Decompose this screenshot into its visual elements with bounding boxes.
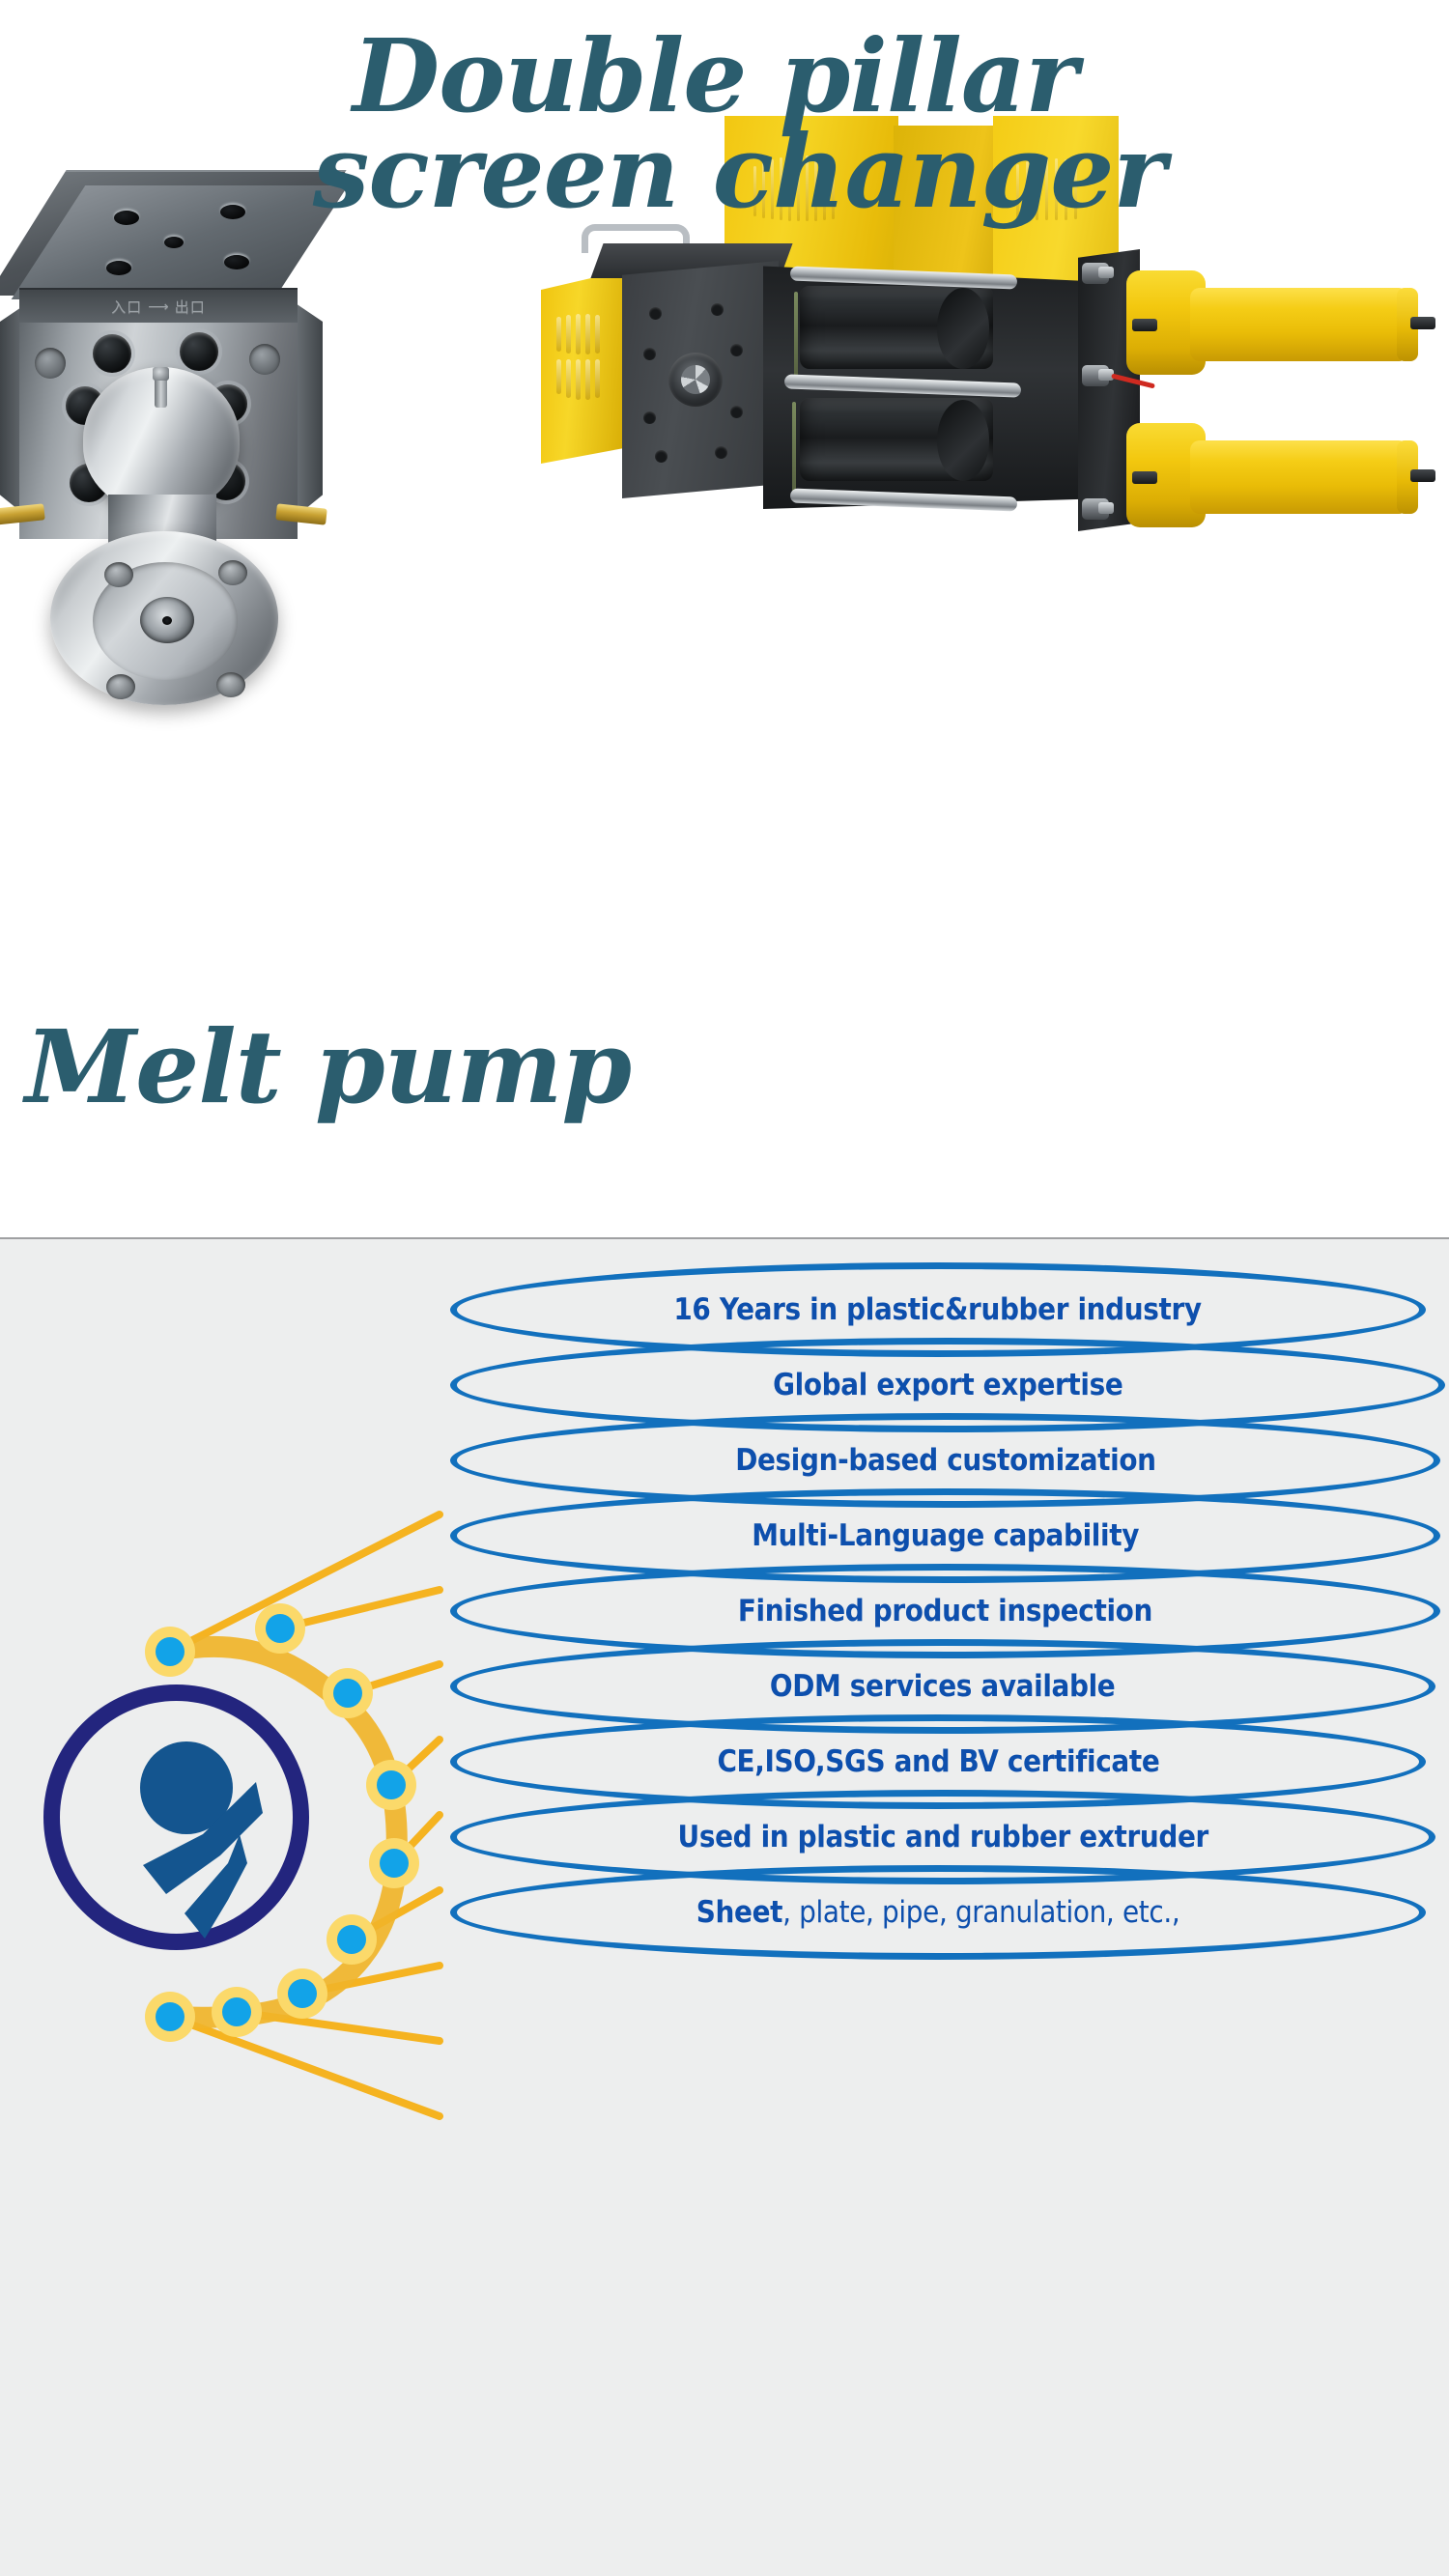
feature-label: Sheet, plate, pipe, granulation, etc.,: [696, 1895, 1180, 1930]
connector-node: [327, 1914, 377, 1965]
cylinder-rod-end: [1410, 469, 1435, 482]
mounting-hole: [711, 303, 724, 316]
pump-flow-arrow: ⟶: [148, 297, 169, 315]
features-section: 16 Years in plastic&rubber industry Glob…: [0, 1239, 1449, 2576]
drum-face: [937, 400, 989, 481]
control-box-vent: [585, 359, 590, 400]
connector-node: [212, 1987, 262, 2037]
feature-pill-application-products[interactable]: Sheet, plate, pipe, granulation, etc.,: [450, 1865, 1426, 1960]
melt-pump-label: Melt pump: [25, 1017, 631, 1118]
mounting-hole: [643, 348, 656, 360]
feature-label: ODM services available: [770, 1669, 1116, 1704]
logo-figure-icon: [58, 1699, 324, 1965]
connector-node: [145, 1627, 195, 1677]
control-box-vent: [595, 359, 600, 398]
pump-bolt: [93, 334, 131, 373]
mounting-hole: [649, 307, 662, 320]
changer-melt-port: [668, 353, 723, 407]
mounting-hole: [715, 446, 727, 459]
feature-label-bold: Sheet: [696, 1895, 782, 1930]
pump-flow-engraving: 入口 ⟶ 出口: [19, 292, 298, 321]
feature-label: Multi-Language capability: [752, 1518, 1139, 1553]
cylinder-rod-end: [1410, 317, 1435, 329]
control-box-vent: [585, 314, 590, 354]
feature-label: CE,ISO,SGS and BV certificate: [717, 1744, 1159, 1779]
mounting-hole: [730, 344, 743, 356]
page-title: Double pillar screen changer: [0, 29, 1449, 220]
company-logo: [43, 1684, 309, 1950]
feature-label: Global export expertise: [773, 1368, 1122, 1402]
hydraulic-cylinder: [1190, 288, 1408, 361]
changer-pillar-nut: [1082, 365, 1109, 386]
changer-pillar-nut: [1082, 498, 1109, 520]
page-title-line2: screen changer: [0, 125, 1449, 220]
connector-node: [145, 1992, 195, 2042]
pump-outlet-label: 出口: [175, 297, 206, 317]
feature-label: Finished product inspection: [738, 1594, 1152, 1628]
melt-pump-photo: 入口 ⟶ 出口: [0, 145, 580, 1111]
hero-section: 入口 ⟶ 出口: [0, 0, 1449, 1238]
connector-node: [277, 1968, 327, 2019]
pump-corner-hole: [249, 344, 280, 375]
pump-flange-hole: [104, 562, 133, 587]
connector-node: [366, 1760, 416, 1810]
pump-flange-hole: [216, 672, 245, 697]
changer-thermocouple-wire: [792, 402, 796, 495]
pump-flange-hole: [218, 560, 247, 585]
pump-hub-screw: [155, 375, 167, 408]
mounting-hole: [643, 411, 656, 424]
feature-label: 16 Years in plastic&rubber industry: [674, 1292, 1202, 1327]
feature-label: Design-based customization: [735, 1443, 1155, 1478]
pump-top-hole: [106, 261, 131, 275]
control-box-vent: [595, 315, 600, 354]
hydraulic-cylinder: [1190, 440, 1408, 514]
cylinder-port-stud: [1132, 319, 1157, 331]
pump-inlet-label: 入口: [111, 297, 142, 317]
mounting-hole: [730, 406, 743, 418]
pump-gear-spline: [140, 597, 194, 643]
page-title-line1: Double pillar: [0, 29, 1449, 125]
cylinder-port-stud: [1132, 471, 1157, 484]
changer-thermocouple-wire: [794, 292, 798, 381]
changer-pillar-nut: [1082, 263, 1109, 284]
pump-flange-hole: [106, 674, 135, 699]
mounting-hole: [655, 450, 668, 463]
feature-label-rest: , plate, pipe, granulation, etc.,: [782, 1895, 1179, 1930]
connector-node: [255, 1603, 305, 1654]
pump-bolt: [180, 332, 218, 371]
drum-face: [937, 288, 989, 369]
pump-top-hole: [164, 237, 184, 248]
feature-label: Used in plastic and rubber extruder: [677, 1820, 1207, 1854]
pump-top-hole: [224, 255, 249, 269]
connector-node: [369, 1838, 419, 1888]
connector-node: [323, 1668, 373, 1718]
pump-corner-hole: [35, 348, 66, 379]
section-divider: [0, 1237, 1449, 1239]
